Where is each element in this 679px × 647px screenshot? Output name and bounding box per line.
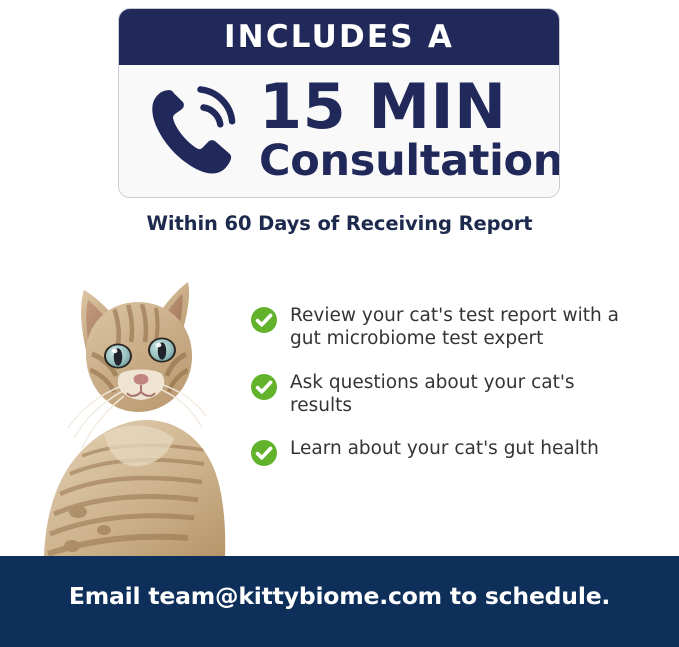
promo-card-header: INCLUDES A bbox=[119, 9, 559, 65]
promo-card-body: 15 MIN Consultation bbox=[119, 65, 559, 197]
benefits-list: Review your cat's test report with a gut… bbox=[250, 304, 650, 467]
check-circle-icon bbox=[250, 306, 278, 334]
promo-consultation-label: Consultation bbox=[259, 140, 560, 184]
check-circle-icon bbox=[250, 373, 278, 401]
phone-call-icon bbox=[141, 76, 253, 188]
list-item-label: Learn about your cat's gut health bbox=[278, 437, 599, 460]
footer-contact-label: Email team@kittybiome.com to schedule. bbox=[69, 582, 610, 610]
promo-header-label: INCLUDES A bbox=[224, 22, 454, 53]
list-item-label: Ask questions about your cat's results bbox=[278, 371, 620, 418]
list-item: Ask questions about your cat's results bbox=[250, 371, 650, 418]
footer-banner: Email team@kittybiome.com to schedule. bbox=[0, 556, 679, 647]
promo-card: INCLUDES A 15 MIN Consultation bbox=[118, 8, 560, 198]
promo-subtitle: Within 60 Days of Receiving Report bbox=[0, 212, 679, 235]
list-item-label: Review your cat's test report with a gut… bbox=[278, 304, 620, 351]
promo-text-block: 15 MIN Consultation bbox=[253, 78, 560, 184]
list-item: Review your cat's test report with a gut… bbox=[250, 304, 650, 351]
cat-photo bbox=[28, 262, 240, 557]
check-circle-icon bbox=[250, 439, 278, 467]
promo-minutes-label: 15 MIN bbox=[259, 78, 507, 137]
list-item: Learn about your cat's gut health bbox=[250, 437, 650, 467]
